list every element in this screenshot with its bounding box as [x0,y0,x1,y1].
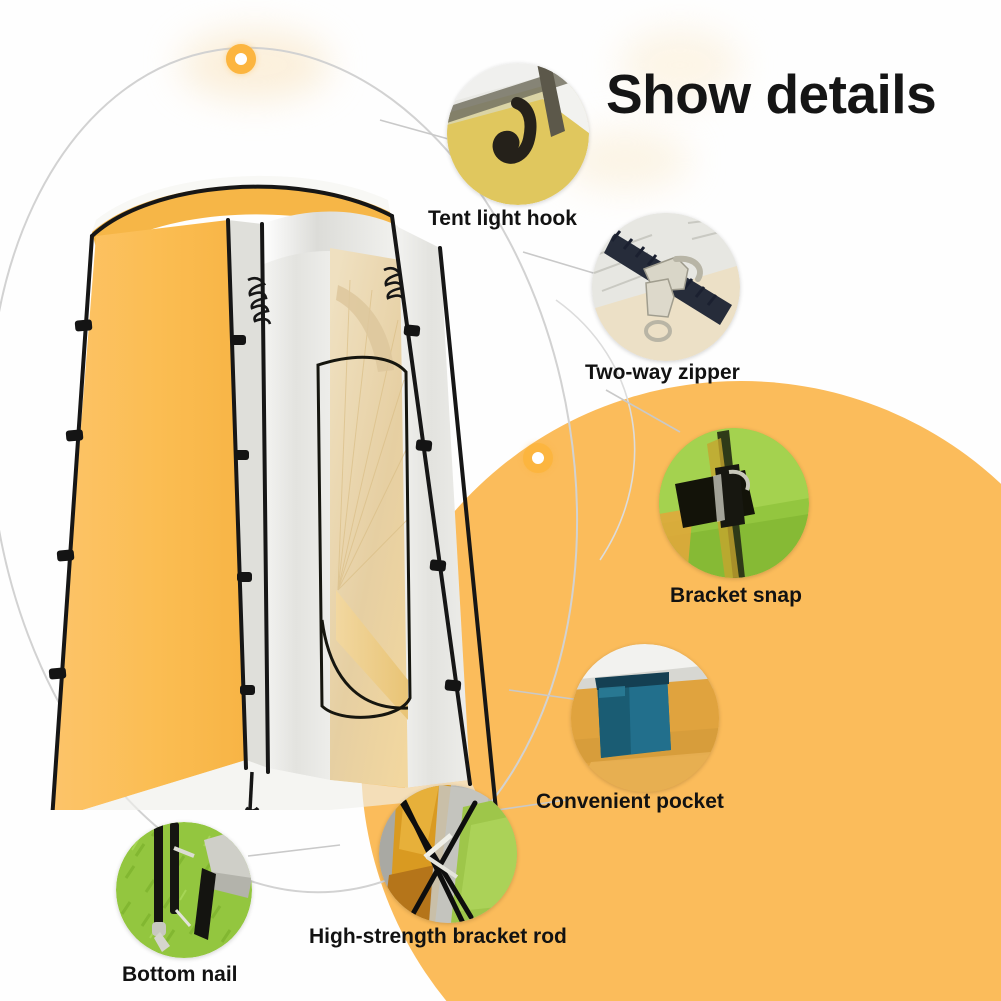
detail-caption-two-way-zipper: Two-way zipper [585,361,740,385]
detail-convenient-pocket[interactable]: Convenient pocket [571,644,719,792]
detail-high-strength-bracket-rod[interactable]: High-strength bracket rod [379,785,517,923]
detail-caption-bottom-nail: Bottom nail [122,963,238,987]
detail-two-way-zipper[interactable]: Two-way zipper [592,213,740,361]
connector-two-way-zipper [523,252,600,275]
detail-image-tent-light-hook [447,63,589,205]
detail-image-bracket-snap [659,428,809,578]
connector-bracket-snap [606,390,680,432]
detail-caption-tent-light-hook: Tent light hook [428,207,577,231]
connector-bottom-nail [248,845,340,856]
detail-image-two-way-zipper [592,213,740,361]
tent-panel-orange [50,220,246,810]
page-title: Show details [606,62,936,126]
detail-tent-light-hook[interactable]: Tent light hook [447,63,589,205]
detail-image-bottom-nail [116,822,252,958]
ring-marker-top [226,44,256,74]
detail-image-convenient-pocket [571,644,719,792]
detail-caption-high-strength-bracket-rod: High-strength bracket rod [309,925,567,949]
detail-caption-bracket-snap: Bracket snap [670,584,802,608]
detail-bottom-nail[interactable]: Bottom nail [116,822,252,958]
detail-caption-convenient-pocket: Convenient pocket [536,790,724,814]
product-detail-infographic: Show details [0,0,1001,1001]
detail-image-high-strength-bracket-rod [379,785,517,923]
ring-marker-right [523,443,553,473]
detail-bracket-snap[interactable]: Bracket snap [659,428,809,578]
